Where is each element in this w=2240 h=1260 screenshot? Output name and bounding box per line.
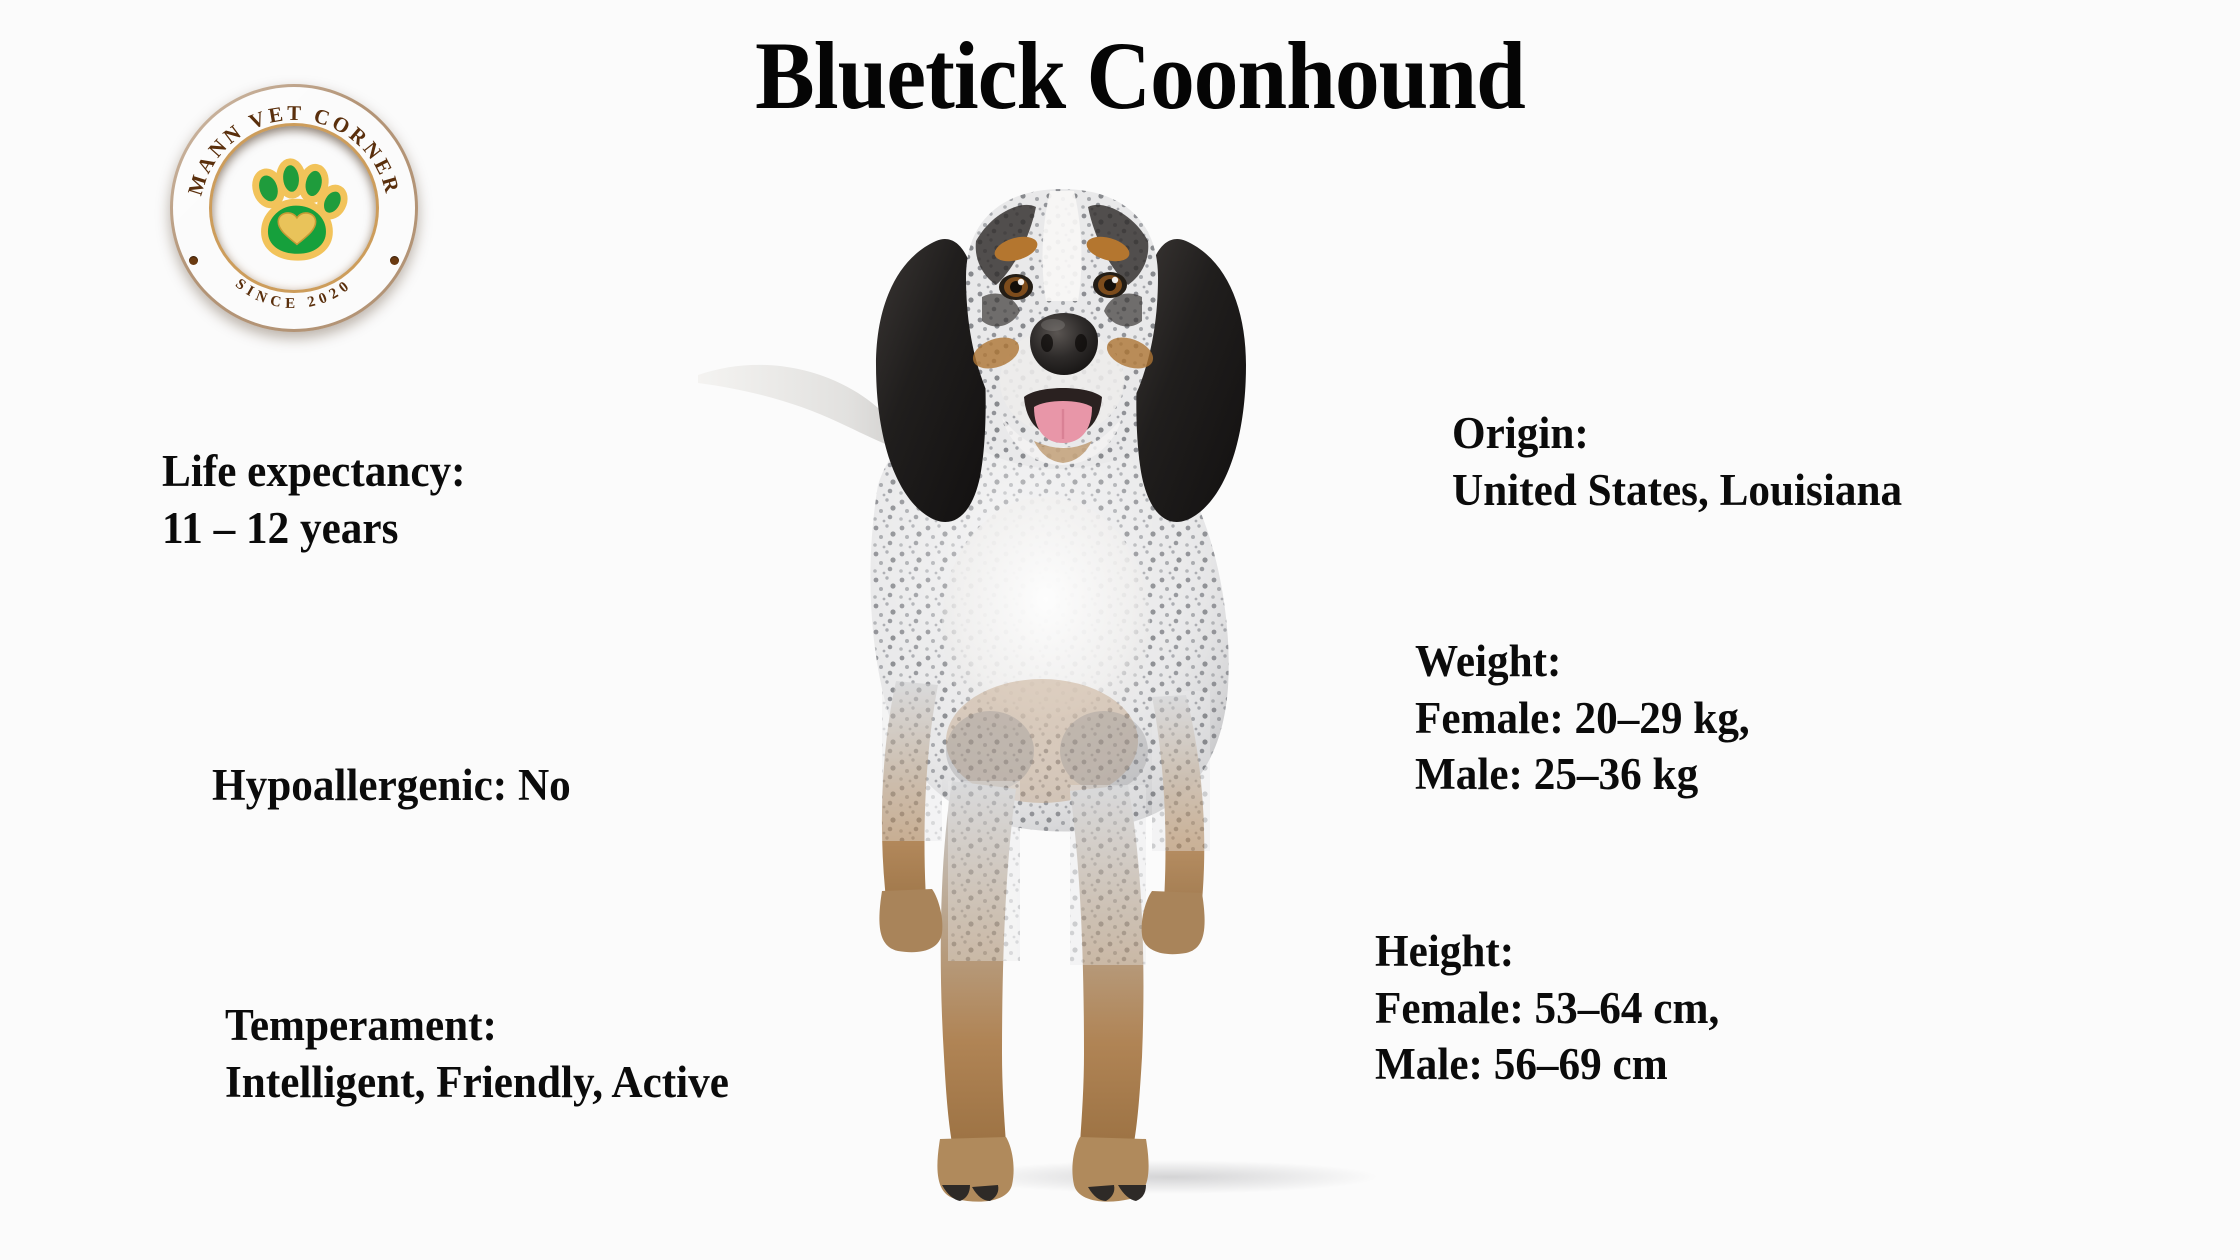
fact-hypoallergenic: Hypoallergenic: No (212, 757, 571, 814)
page-title: Bluetick Coonhound (675, 26, 1605, 127)
bluetick-coonhound-photo (690, 185, 1370, 1215)
fact-temperament: Temperament: Intelligent, Friendly, Acti… (225, 997, 729, 1110)
badge-dot-right-icon (390, 256, 399, 265)
dog-forehead-blaze (1043, 191, 1082, 301)
dog-eye-right (1093, 272, 1127, 298)
fact-origin: Origin: United States, Louisiana (1452, 405, 1902, 518)
fact-life-expectancy: Life expectancy: 11 – 12 years (162, 443, 466, 556)
dog-paws (879, 889, 1204, 1202)
dog-eye-left (999, 274, 1033, 300)
mann-vet-corner-logo[interactable]: MANN VET CORNER SINCE 2020 (170, 84, 418, 332)
paw-print-icon (235, 151, 353, 269)
fact-height: Height: Female: 53–64 cm, Male: 56–69 cm (1375, 923, 1719, 1093)
fact-weight: Weight: Female: 20–29 kg, Male: 25–36 kg (1415, 633, 1750, 803)
infographic-page: Bluetick Coonhound MANN VET CORNER SINCE… (0, 0, 2240, 1260)
badge-dot-left-icon (189, 256, 198, 265)
